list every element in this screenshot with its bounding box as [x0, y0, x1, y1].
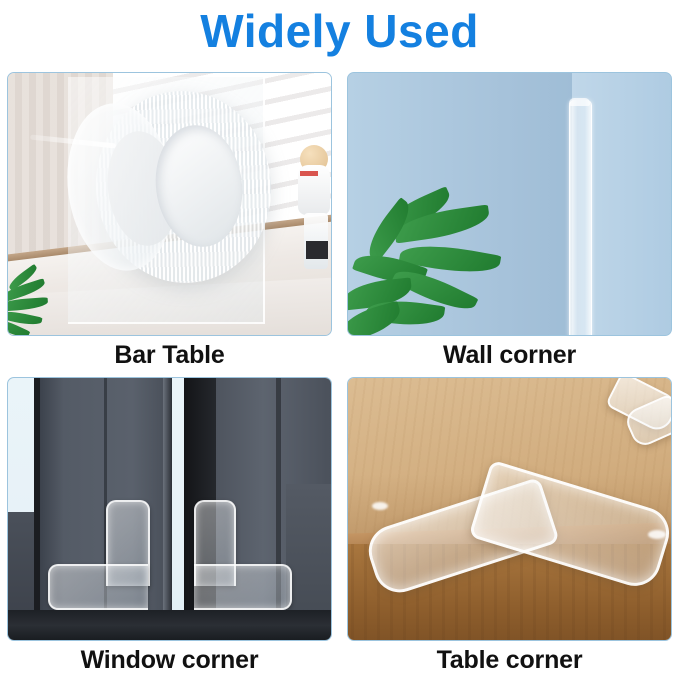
panel-window-corner[interactable]: Window corner	[7, 377, 332, 677]
panel-table-corner[interactable]: Table corner	[347, 377, 672, 677]
panel-wall-corner[interactable]: Wall corner	[347, 72, 672, 372]
bottle-label	[306, 241, 328, 259]
caption-wall-corner: Wall corner	[347, 338, 672, 372]
floor-strip	[7, 610, 332, 641]
caption-bar-table: Bar Table	[7, 338, 332, 372]
potted-plant	[348, 193, 498, 336]
photo-window-corner	[7, 377, 332, 641]
photo-wall-corner	[347, 72, 672, 336]
astronaut-figurine-stripe	[300, 171, 318, 176]
guard-highlight-right	[648, 530, 666, 539]
window-wall-right	[286, 484, 332, 616]
caption-table-corner: Table corner	[347, 643, 672, 677]
photo-table-corner	[347, 377, 672, 641]
page-title: Widely Used	[0, 2, 679, 60]
photo-bar-table	[7, 72, 332, 336]
caption-window-corner: Window corner	[7, 643, 332, 677]
panel-bar-table[interactable]: Bar Table	[7, 72, 332, 372]
guard-highlight-left	[372, 502, 388, 510]
wall-corner-guard-top-cap	[569, 98, 590, 106]
panel-grid: Bar Table W	[0, 72, 679, 676]
window-frame-left-outer-edge	[163, 377, 172, 630]
wall-corner-guard-strip	[569, 100, 592, 336]
product-feature-image: Widely Used	[0, 0, 679, 676]
fern-plant	[7, 271, 66, 336]
corner-protector-left-horizontal	[48, 564, 148, 610]
corner-protector-right-horizontal	[194, 564, 292, 610]
